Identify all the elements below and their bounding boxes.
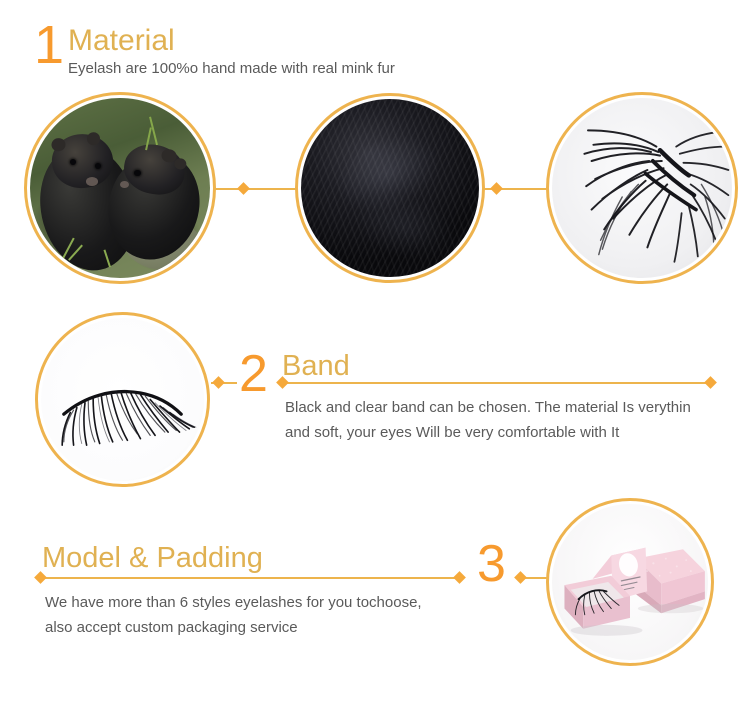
diamond-marker bbox=[212, 376, 225, 389]
mink-lash-closeup-photo bbox=[546, 92, 738, 284]
mink-animals-photo bbox=[24, 92, 216, 284]
pink-packaging-box-photo bbox=[546, 498, 714, 666]
section-body-model-line-1: We have more than 6 styles eyelashes for… bbox=[45, 591, 422, 614]
mink-fur-texture-photo bbox=[295, 93, 485, 283]
section-heading-material: Material bbox=[68, 26, 175, 56]
section-heading-band: Band bbox=[282, 352, 350, 381]
diamond-marker bbox=[490, 182, 503, 195]
step-number-3: 3 bbox=[477, 538, 505, 590]
eyelash-band-photo bbox=[35, 312, 210, 487]
step-number-2: 2 bbox=[239, 348, 267, 400]
section-body-material-line-1: Eyelash are 100%o hand made with real mi… bbox=[68, 57, 395, 80]
infographic-page: 1 Material Eyelash are 100%o hand made w… bbox=[0, 0, 750, 717]
section-body-band-line-1: Black and clear band can be chosen. The … bbox=[285, 396, 691, 419]
section-body-model-line-2: also accept custom packaging service bbox=[45, 616, 298, 639]
diamond-marker bbox=[237, 182, 250, 195]
diamond-marker-right bbox=[704, 376, 717, 389]
section-heading-model-padding: Model & Padding bbox=[42, 544, 263, 573]
section-body-band-line-2: and soft, your eyes Will be very comfort… bbox=[285, 421, 619, 444]
diamond-marker bbox=[514, 571, 527, 584]
step-number-1: 1 bbox=[34, 18, 63, 72]
diamond-marker-right bbox=[453, 571, 466, 584]
